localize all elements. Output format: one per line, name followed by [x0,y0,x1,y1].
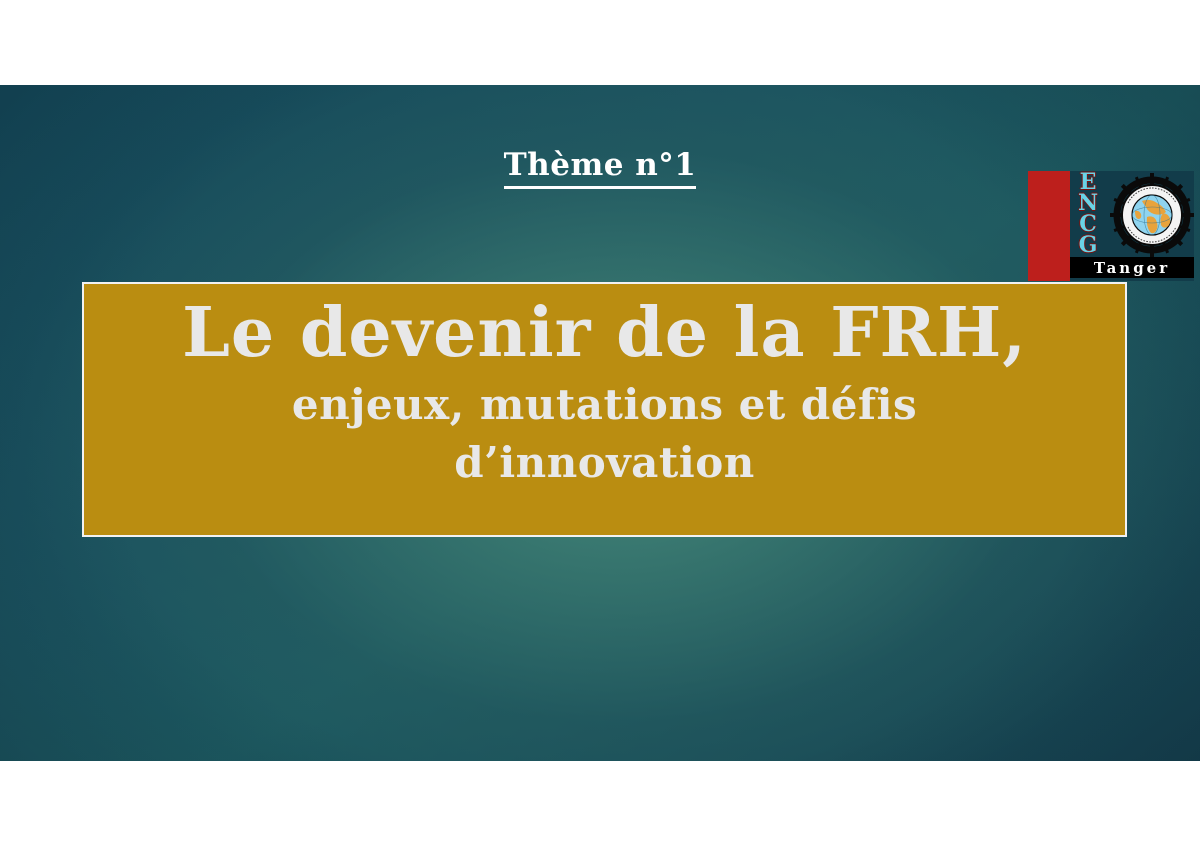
title-box: Le devenir de la FRH, enjeux, mutations … [82,282,1127,537]
logo-city-label: Tanger [1094,260,1170,276]
title-line-secondary: enjeux, mutations et défis [292,376,917,434]
globe-ship-wheel-emblem [1110,173,1194,257]
theme-heading: Thème n°1 [504,148,697,189]
slide-canvas: Thème n°1 Le devenir de la FRH, enjeux, … [0,85,1200,761]
logo-city-band: Tanger [1070,257,1194,278]
logo-red-bar [1028,171,1070,281]
title-line-primary: Le devenir de la FRH, [182,290,1027,376]
logo-letters: E N C G [1070,172,1106,258]
logo-letter-g: G [1079,235,1098,256]
title-line-tertiary: d’innovation [454,434,755,492]
encg-tanger-logo: E N C G [1028,171,1194,281]
theme-heading-container: Thème n°1 [0,148,1200,189]
slide-page: Thème n°1 Le devenir de la FRH, enjeux, … [0,0,1200,849]
